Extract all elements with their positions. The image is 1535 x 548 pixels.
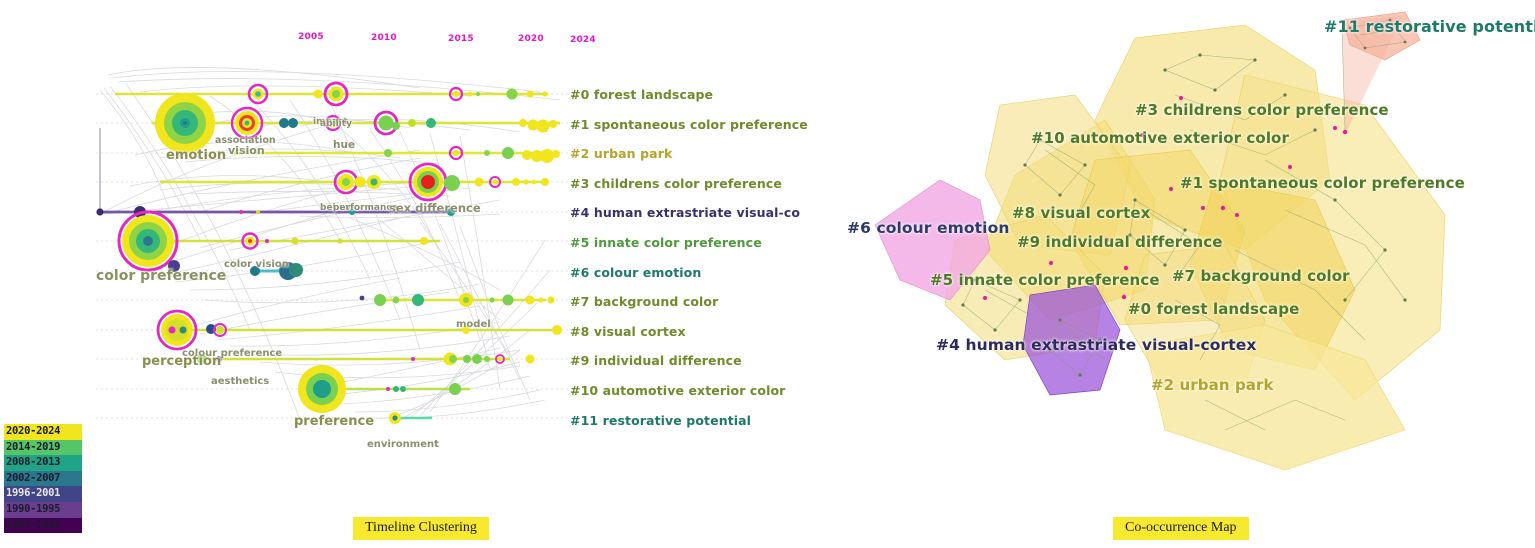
keyword-preference: preference bbox=[294, 414, 374, 429]
cooc-label-11[interactable]: #11 restorative potential bbox=[1324, 17, 1535, 36]
cluster-label-11[interactable]: #11 restorative potential bbox=[570, 406, 845, 436]
cluster-label-10[interactable]: #10 automotive exterior color bbox=[570, 376, 845, 406]
keyword-vision: vision bbox=[228, 144, 265, 157]
cluster-label-8[interactable]: #8 visual cortex bbox=[570, 317, 845, 347]
keyword-ability: ability bbox=[320, 119, 352, 129]
colormap-label: 2014-2019 bbox=[6, 440, 60, 456]
cluster-label-7[interactable]: #7 background color bbox=[570, 287, 845, 317]
timeline-clustering-panel[interactable]: 2005 2010 2015 2020 2024 bbox=[0, 0, 845, 548]
cluster-label-3[interactable]: #3 childrens color preference bbox=[570, 169, 845, 199]
keyword-model: model bbox=[456, 319, 491, 330]
cooc-label-6[interactable]: #6 colour emotion bbox=[847, 219, 1009, 237]
cluster-label-6[interactable]: #6 colour emotion bbox=[570, 258, 845, 288]
caption-timeline-clustering: Timeline Clustering bbox=[353, 517, 489, 540]
colormap-row-2014-2019: 2014-2019 bbox=[4, 440, 82, 456]
colormap-row-2008-2013: 2008-2013 bbox=[4, 455, 82, 471]
year-colormap-legend: 2020-2024 2014-2019 2008-2013 2002-2007 … bbox=[4, 424, 82, 533]
colormap-label: 1996-2001 bbox=[6, 486, 60, 502]
cooc-label-10[interactable]: #10 automotive exterior color bbox=[1031, 129, 1289, 147]
cooc-label-5[interactable]: #5 innate color preference bbox=[930, 271, 1160, 289]
colormap-label: 2020-2024 bbox=[6, 424, 60, 440]
cooc-label-2[interactable]: #2 urban park bbox=[1151, 376, 1274, 394]
caption-cooccurrence-map: Co-occurrence Map bbox=[1113, 517, 1249, 540]
cooc-label-0[interactable]: #0 forest landscape bbox=[1128, 300, 1299, 318]
keyword-emotion: emotion bbox=[166, 148, 226, 163]
timeline-nodes[interactable] bbox=[96, 83, 562, 424]
colormap-row-2020-2024: 2020-2024 bbox=[4, 424, 82, 440]
cooc-label-1[interactable]: #1 spontaneous color preference bbox=[1180, 174, 1465, 192]
keyword-aesthetics: aesthetics bbox=[211, 376, 269, 387]
colormap-row-1990-1995: 1990-1995 bbox=[4, 502, 82, 518]
keyword-colour-preference: colour preference bbox=[182, 348, 282, 359]
cluster-label-9[interactable]: #9 individual difference bbox=[570, 346, 845, 376]
cooc-label-9[interactable]: #9 individual difference bbox=[1017, 233, 1223, 251]
colormap-row-1996-2001: 1996-2001 bbox=[4, 486, 82, 502]
colormap-label: 1984-1989 bbox=[6, 518, 60, 534]
colormap-row-2002-2007: 2002-2007 bbox=[4, 471, 82, 487]
cluster-label-1[interactable]: #1 spontaneous color preference bbox=[570, 110, 845, 140]
cluster-label-4[interactable]: #4 human extrastriate visual-co bbox=[570, 198, 845, 228]
cooc-label-8[interactable]: #8 visual cortex bbox=[1012, 204, 1150, 222]
cooc-label-3[interactable]: #3 childrens color preference bbox=[1135, 101, 1389, 119]
colormap-row-1984-1989: 1984-1989 bbox=[4, 518, 82, 534]
cluster-label-5[interactable]: #5 innate color preference bbox=[570, 228, 845, 258]
colormap-label: 1990-1995 bbox=[6, 502, 60, 518]
keyword-sex-difference: sex difference bbox=[389, 201, 481, 215]
colormap-label: 2008-2013 bbox=[6, 455, 60, 471]
keyword-color-preference: color preference bbox=[96, 268, 226, 284]
cluster-label-0[interactable]: #0 forest landscape bbox=[570, 80, 845, 110]
cluster-label-2[interactable]: #2 urban park bbox=[570, 139, 845, 169]
cooccurrence-map-panel[interactable]: #11 restorative potential #3 childrens c… bbox=[845, 0, 1535, 548]
colormap-label: 2002-2007 bbox=[6, 471, 60, 487]
keyword-environment: environment bbox=[367, 439, 439, 450]
keyword-color-vision: color vision bbox=[224, 259, 289, 270]
cluster-label-list[interactable]: #0 forest landscape #1 spontaneous color… bbox=[570, 80, 845, 435]
cooc-label-7[interactable]: #7 background color bbox=[1172, 267, 1350, 285]
cooc-label-4[interactable]: #4 human extrastriate visual-cortex bbox=[936, 336, 1256, 354]
keyword-hue: hue bbox=[333, 139, 355, 151]
